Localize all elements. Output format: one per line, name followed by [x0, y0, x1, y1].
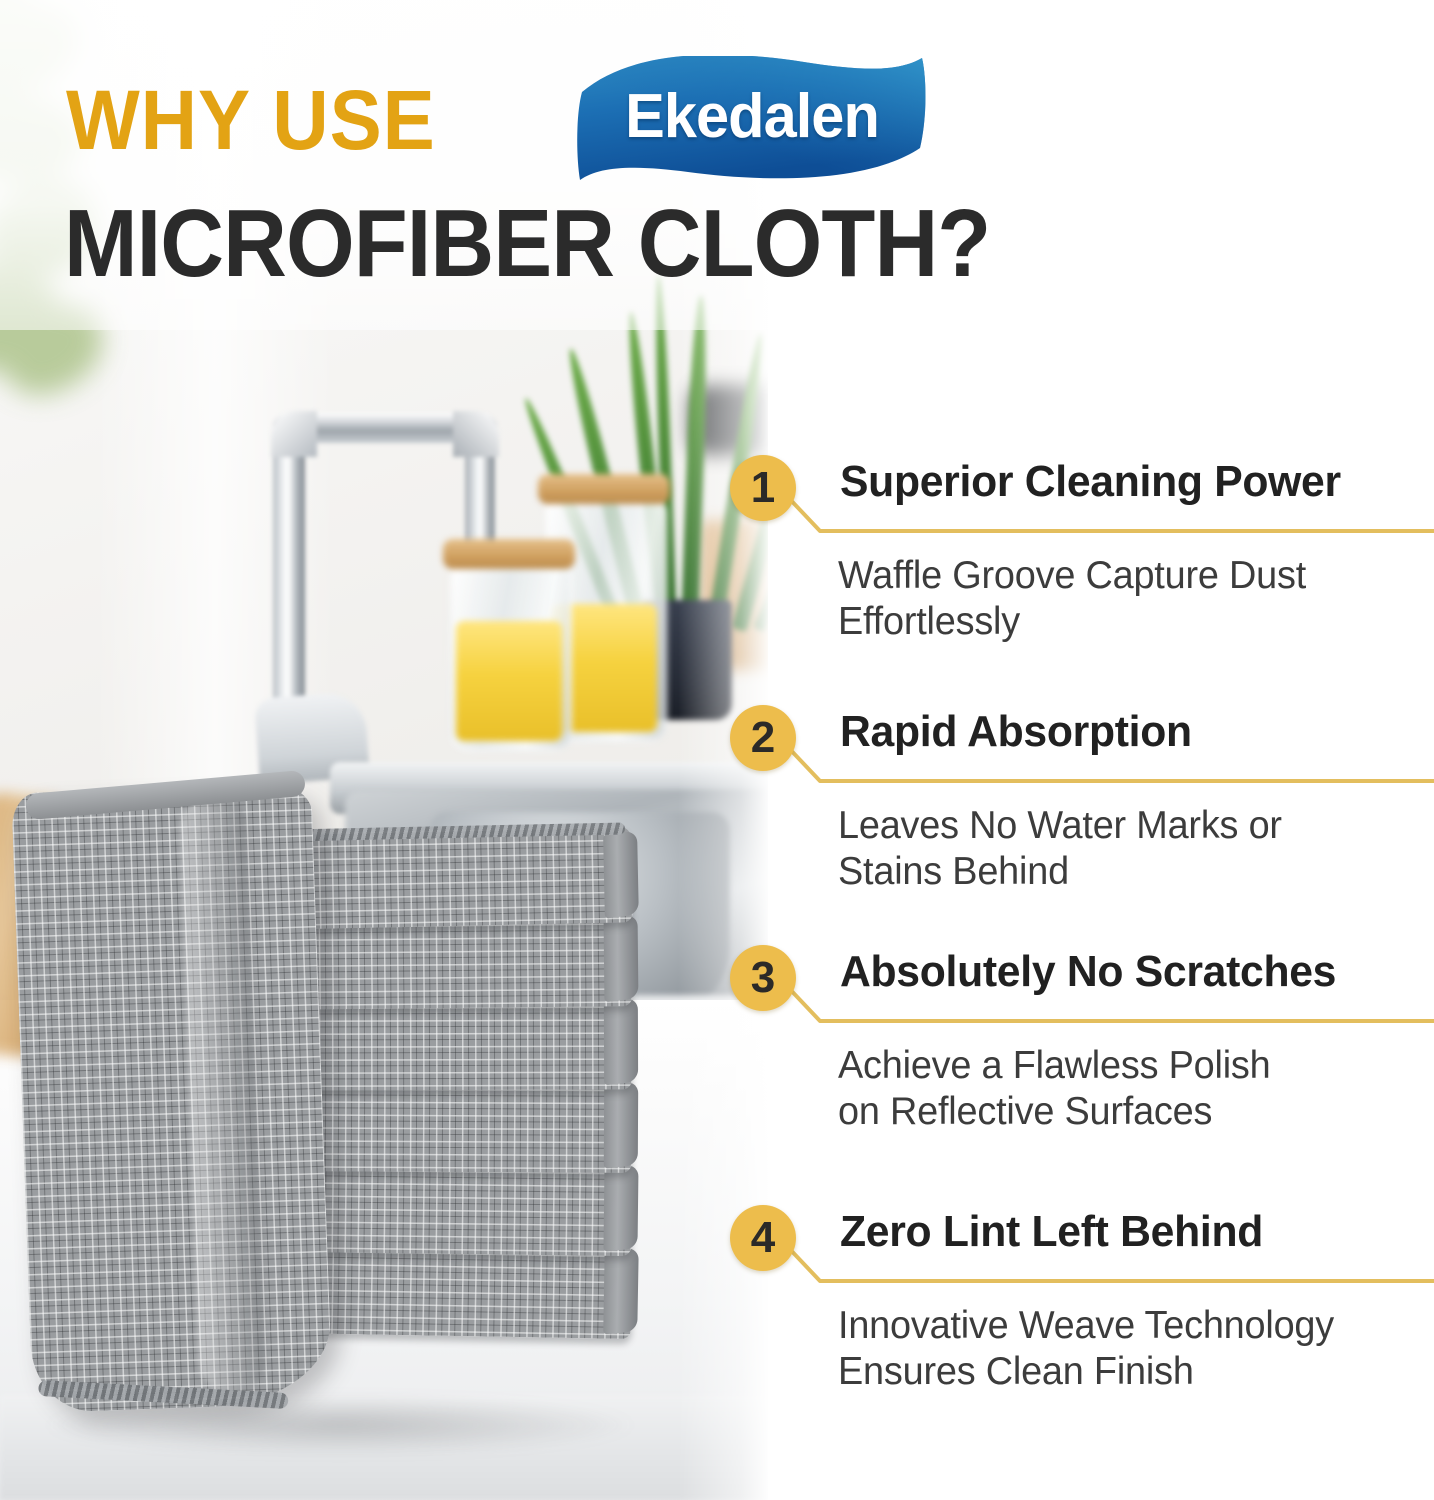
feature-subtext-2: Leaves No Water Marks or Stains Behind [838, 803, 1434, 895]
infographic-poster: WHY USE Ekedalen MI [0, 0, 1434, 1500]
feature-connector-2 [784, 739, 1434, 787]
feature-subtext-1-line1: Waffle Groove Capture Dust [838, 553, 1420, 599]
feature-number-badge-3: 3 [730, 945, 796, 1011]
feature-number-badge-1: 1 [730, 455, 796, 521]
feature-subtext-3: Achieve a Flawless Polish on Reflective … [838, 1043, 1434, 1135]
feature-subtext-4-line2: Ensures Clean Finish [838, 1349, 1420, 1395]
feature-number-badge-2: 2 [730, 705, 796, 771]
feature-subtext-4: Innovative Weave Technology Ensures Clea… [838, 1303, 1434, 1395]
feature-subtext-1: Waffle Groove Capture Dust Effortlessly [838, 553, 1434, 645]
feature-number-badge-4: 4 [730, 1205, 796, 1271]
header: WHY USE Ekedalen MI [0, 0, 1434, 330]
feature-item-2: 2 Rapid Absorption Leaves No Water Marks… [0, 705, 1434, 955]
connector-line-icon [784, 489, 1434, 537]
feature-subtext-1-line2: Effortlessly [838, 599, 1420, 645]
feature-connector-1 [784, 489, 1434, 537]
feature-subtext-3-line1: Achieve a Flawless Polish [838, 1043, 1420, 1089]
feature-subtext-3-line2: on Reflective Surfaces [838, 1089, 1420, 1135]
feature-connector-4 [784, 1239, 1434, 1287]
connector-line-icon [784, 1239, 1434, 1287]
feature-item-3: 3 Absolutely No Scratches Achieve a Flaw… [0, 945, 1434, 1195]
feature-connector-3 [784, 979, 1434, 1027]
brand-logo: Ekedalen [576, 56, 928, 184]
feature-item-4: 4 Zero Lint Left Behind Innovative Weave… [0, 1205, 1434, 1455]
connector-line-icon [784, 979, 1434, 1027]
brand-name: Ekedalen [583, 52, 921, 180]
feature-item-1: 1 Superior Cleaning Power Waffle Groove … [0, 455, 1434, 705]
feature-subtext-2-line2: Stains Behind [838, 849, 1420, 895]
connector-line-icon [784, 739, 1434, 787]
page-title: MICROFIBER CLOTH? [64, 196, 990, 292]
feature-subtext-2-line1: Leaves No Water Marks or [838, 803, 1420, 849]
eyebrow-text: WHY USE [66, 78, 436, 162]
feature-subtext-4-line1: Innovative Weave Technology [838, 1303, 1420, 1349]
